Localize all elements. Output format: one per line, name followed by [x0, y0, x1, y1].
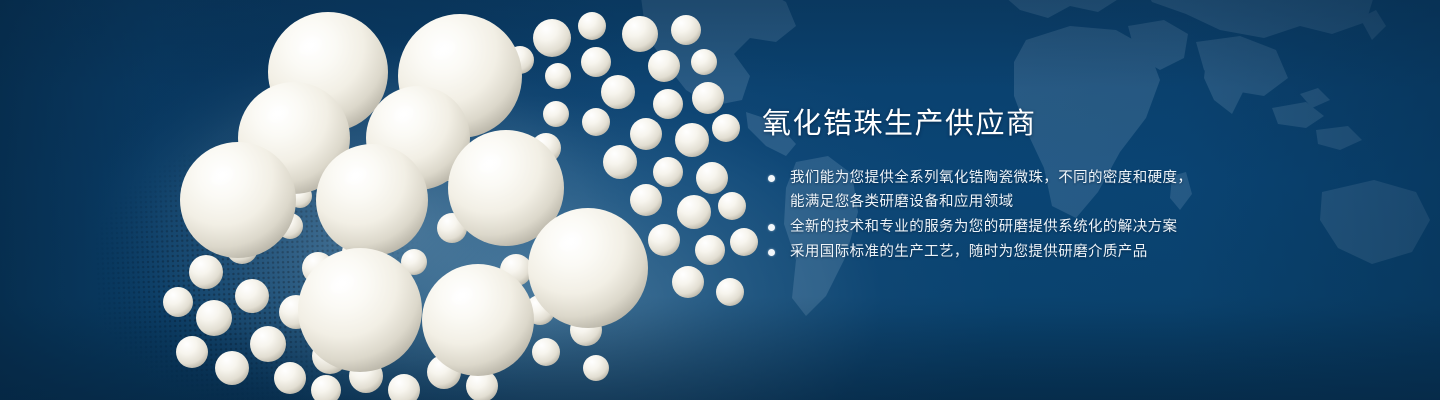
hero-banner: 氧化锆珠生产供应商 我们能为您提供全系列氧化锆陶瓷微珠，不同的密度和硬度， 能满… — [0, 0, 1440, 400]
list-item: 全新的技术和专业的服务为您的研磨提供系统化的解决方案 — [762, 215, 1262, 239]
list-item: 我们能为您提供全系列氧化锆陶瓷微珠，不同的密度和硬度， 能满足您各类研磨设备和应… — [762, 166, 1262, 214]
bullet-text-line1: 我们能为您提供全系列氧化锆陶瓷微珠，不同的密度和硬度， — [790, 170, 1192, 186]
banner-copy: 氧化锆珠生产供应商 我们能为您提供全系列氧化锆陶瓷微珠，不同的密度和硬度， 能满… — [762, 104, 1262, 265]
page-title: 氧化锆珠生产供应商 — [762, 104, 1262, 144]
bullet-dot-icon — [768, 175, 775, 182]
bullet-text-line1: 采用国际标准的生产工艺，随时为您提供研磨介质产品 — [790, 244, 1148, 260]
list-item: 采用国际标准的生产工艺，随时为您提供研磨介质产品 — [762, 240, 1262, 264]
bullet-text-line1: 全新的技术和专业的服务为您的研磨提供系统化的解决方案 — [790, 219, 1177, 235]
bullet-dot-icon — [768, 224, 775, 231]
bullet-text-line2: 能满足您各类研磨设备和应用领域 — [790, 190, 1262, 214]
bullet-dot-icon — [768, 249, 775, 256]
feature-bullet-list: 我们能为您提供全系列氧化锆陶瓷微珠，不同的密度和硬度， 能满足您各类研磨设备和应… — [762, 166, 1262, 264]
